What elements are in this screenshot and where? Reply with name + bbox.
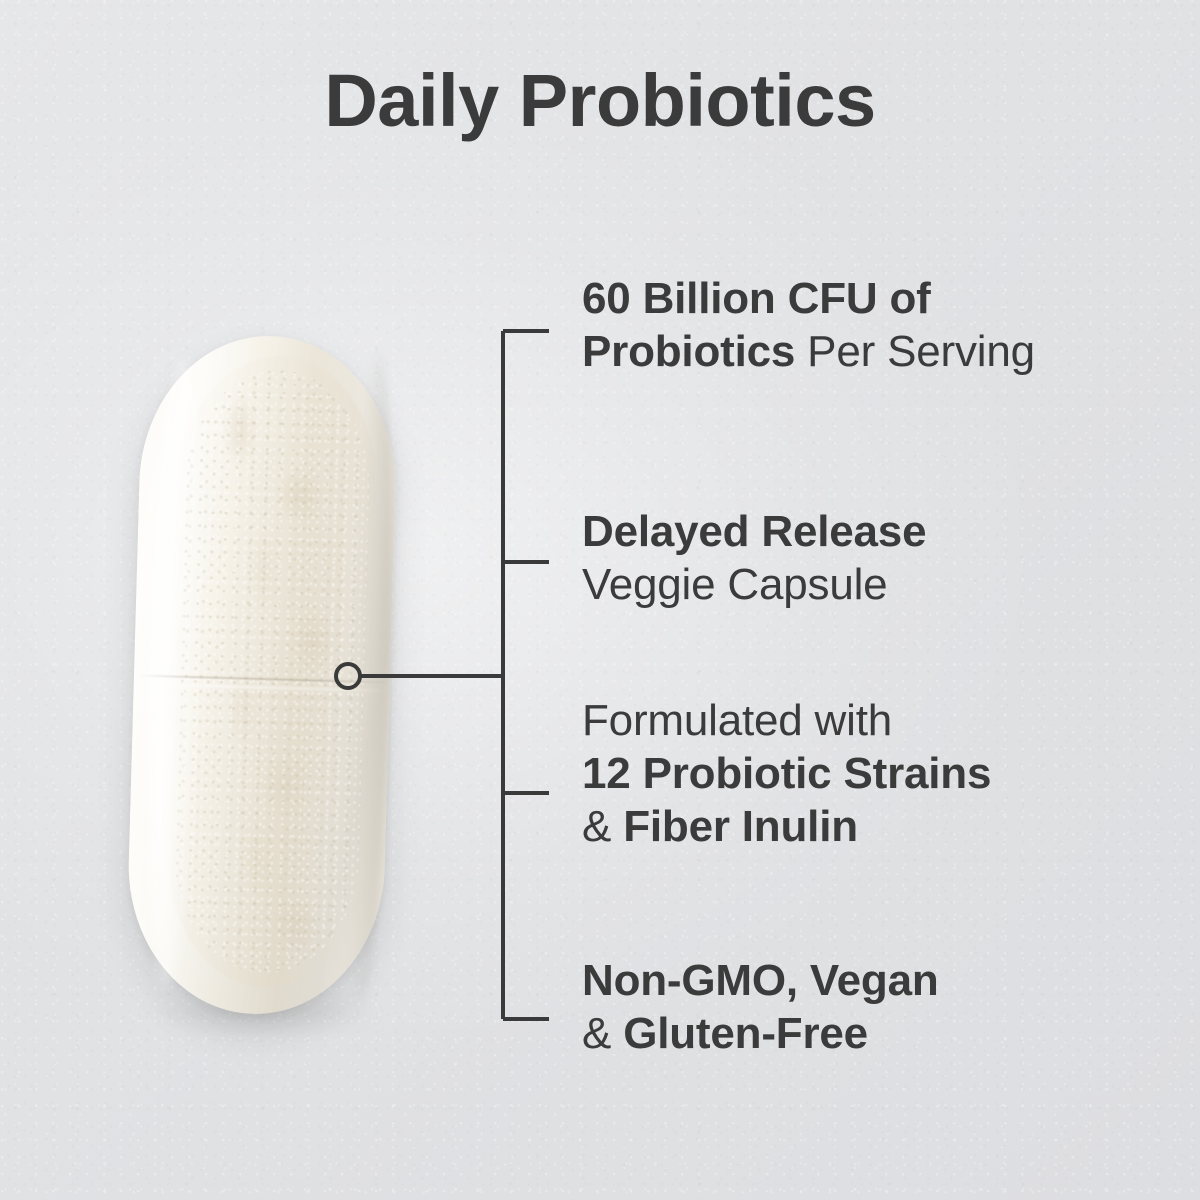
callout-certifications: Non-GMO, Vegan& Gluten-Free (582, 954, 939, 1060)
callout-text-emphasis: 12 Probiotic Strains (582, 749, 991, 798)
callout-text-emphasis: Fiber Inulin (623, 802, 858, 851)
callout-text: Veggie Capsule (582, 560, 887, 609)
callout-delayed-release: Delayed ReleaseVeggie Capsule (582, 505, 926, 611)
callout-strains: Formulated with12 Probiotic Strains& Fib… (582, 694, 991, 854)
page-title: Daily Probiotics (0, 64, 1200, 138)
callout-text: & (582, 1009, 623, 1058)
callout-cfu: 60 Billion CFU ofProbiotics Per Serving (582, 272, 1035, 378)
callout-text-emphasis: 60 Billion CFU of (582, 274, 931, 323)
callout-line: Delayed Release (582, 505, 926, 558)
callout-line: Formulated with (582, 694, 991, 747)
infographic-canvas: Daily Probiotics 60 Billion CFU ofProbio… (0, 0, 1200, 1200)
probiotic-capsule-image (125, 333, 400, 1018)
callout-line: Probiotics Per Serving (582, 325, 1035, 378)
callout-text: & (582, 802, 623, 851)
callout-text: Per Serving (795, 327, 1035, 376)
callout-text-emphasis: Probiotics (582, 327, 795, 376)
callout-text-emphasis: Delayed Release (582, 507, 926, 556)
callout-line: & Fiber Inulin (582, 800, 991, 853)
callout-line: 12 Probiotic Strains (582, 747, 991, 800)
callout-line: 60 Billion CFU of (582, 272, 1035, 325)
callout-text: Formulated with (582, 696, 892, 745)
capsule-powder-speckle (172, 368, 373, 976)
capsule-shell (125, 333, 400, 1018)
callout-line: & Gluten-Free (582, 1007, 939, 1060)
callout-line: Non-GMO, Vegan (582, 954, 939, 1007)
callout-text-emphasis: Non-GMO, Vegan (582, 956, 939, 1005)
callout-line: Veggie Capsule (582, 558, 926, 611)
callout-text-emphasis: Gluten-Free (623, 1009, 868, 1058)
